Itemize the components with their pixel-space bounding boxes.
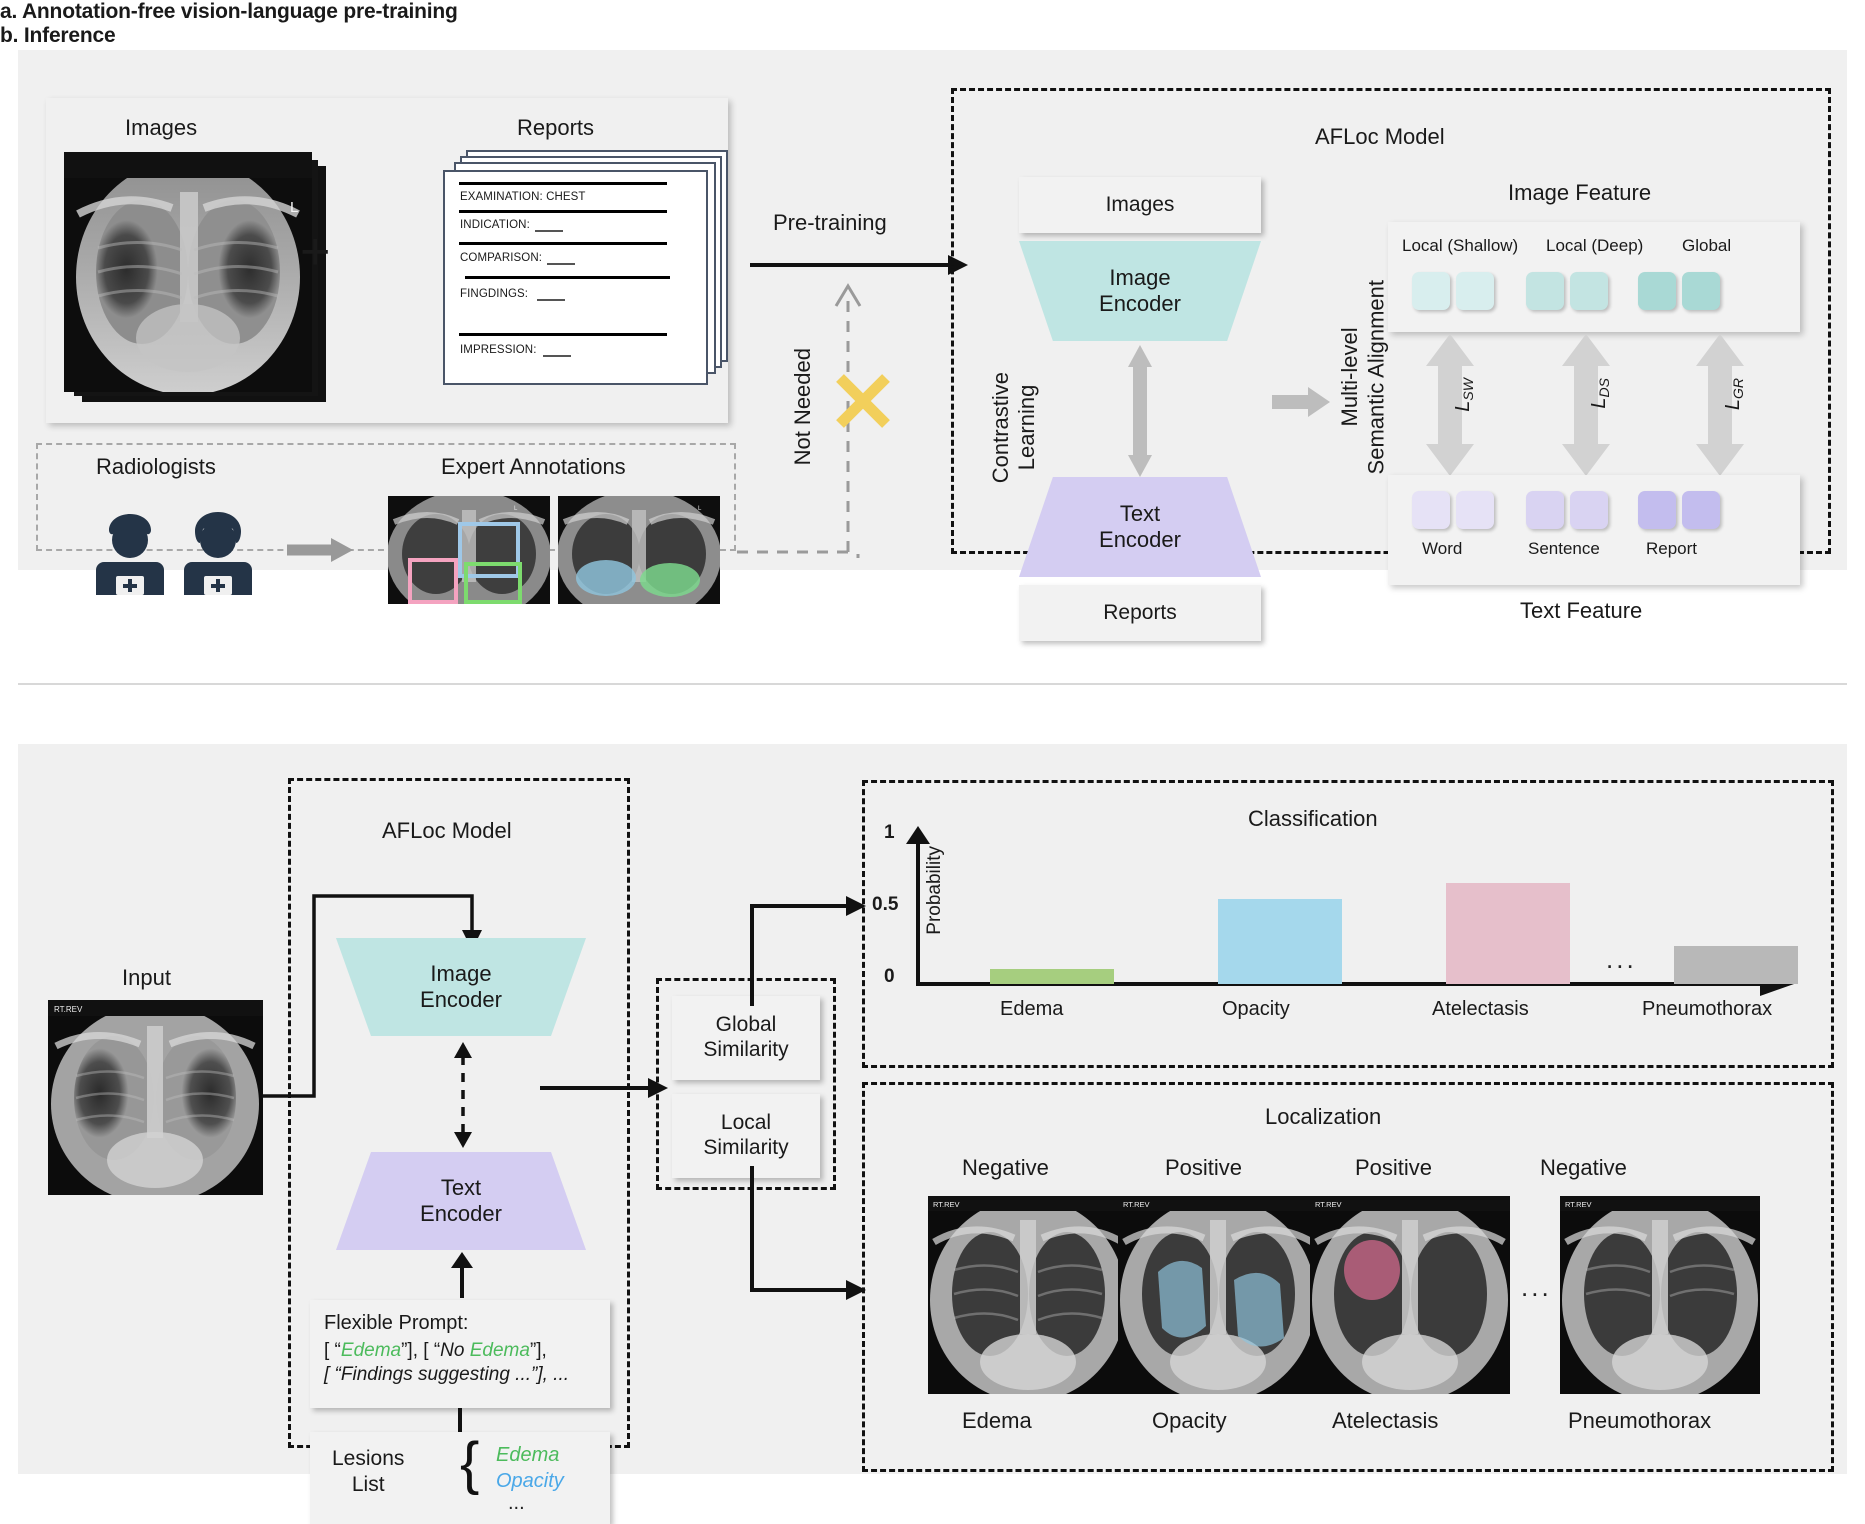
report-blank-3 [547, 263, 575, 265]
loss-ds-L: L [1588, 397, 1610, 408]
text-chip-word-2 [1456, 491, 1494, 529]
loss-label-gr: LGR [1722, 378, 1746, 410]
xray-stack-front: L [64, 152, 312, 392]
text-feature-panel: Word Sentence Report [1388, 475, 1800, 585]
loss-gr-L: L [1722, 399, 1744, 410]
svg-text:L: L [290, 199, 298, 216]
contrastive-learning-label: Contrastive Learning [988, 372, 1040, 483]
text-encoder-b: Text Encoder [336, 1152, 586, 1250]
text-level-sentence: Sentence [1528, 539, 1600, 559]
loc-xray-opacity: RT.REV [1118, 1196, 1318, 1394]
prompt-to-encoder-arrow [448, 1252, 476, 1300]
report-blank-5 [543, 355, 571, 357]
y-axis-label: Probability [924, 846, 946, 935]
expert-annotations-label: Expert Annotations [441, 454, 626, 480]
report-rule-3 [459, 242, 667, 245]
bar-edema [990, 969, 1114, 984]
y-tick-05: 0.5 [872, 894, 898, 916]
image-chip-global-1 [1638, 272, 1676, 310]
y-tick-0: 0 [884, 966, 895, 988]
encoder-to-similarity-arrow [540, 1070, 670, 1106]
image-chip-deep-2 [1570, 272, 1608, 310]
svg-text:RT.REV: RT.REV [1565, 1200, 1592, 1209]
svg-text:RT.REV: RT.REV [1123, 1200, 1150, 1209]
loc-status-1: Negative [962, 1155, 1049, 1181]
report-line-4: FINGDINGS: [460, 288, 528, 300]
prompt-no: No [440, 1340, 470, 1361]
loc-xray-3-svg: RT.REV [1310, 1196, 1510, 1394]
images-input-box: Images [1019, 177, 1261, 233]
loc-xray-4-svg: RT.REV [1560, 1196, 1760, 1394]
plus-sign: + [300, 222, 330, 282]
text-encoder-a: Text Encoder [1019, 477, 1261, 577]
bbox-xray-svg: L [388, 496, 550, 604]
prompt-bracket-1: [ “ [324, 1340, 341, 1361]
y-tick-1: 1 [884, 822, 895, 844]
lesions-list-label: Lesions List [332, 1446, 404, 1499]
input-xray-svg: RT.REV [48, 1000, 263, 1195]
to-alignment-arrow [1272, 385, 1332, 419]
report-rule-1 [459, 182, 667, 185]
x-tick-pneumothorax: Pneumothorax [1642, 998, 1772, 1021]
x-tick-atelectasis: Atelectasis [1432, 998, 1529, 1021]
radiologists-to-annotations-arrow [285, 535, 355, 565]
panel-a-title: a. Annotation-free vision-language pre-t… [0, 0, 1865, 24]
chart-ellipsis: ... [1606, 944, 1637, 975]
flexible-prompt-box: Flexible Prompt: [ “Edema”], [ “No Edema… [310, 1300, 610, 1408]
loss-label-ds: LDS [1588, 378, 1612, 409]
local-to-localization-path [740, 1166, 870, 1316]
loc-xray-pneumothorax: RT.REV [1560, 1196, 1760, 1394]
localization-title: Localization [1265, 1104, 1381, 1130]
encoder-bidirectional-arrow-a [1122, 345, 1158, 477]
input-label: Input [122, 965, 171, 991]
loc-label-atelectasis: Atelectasis [1332, 1408, 1438, 1434]
image-level-global: Global [1682, 236, 1731, 256]
text-chip-report-1 [1638, 491, 1676, 529]
report-rule-4 [465, 276, 670, 279]
multilevel-alignment-label: Multi-level Semantic Alignment [1337, 280, 1390, 474]
loc-status-2: Positive [1165, 1155, 1242, 1181]
prompt-edema-1: Edema [341, 1340, 401, 1361]
pretraining-label: Pre-training [773, 210, 887, 236]
prompt-bracket-2: ”], [ “ [401, 1340, 440, 1361]
loc-label-opacity: Opacity [1152, 1408, 1227, 1434]
svg-text:RT.REV: RT.REV [1315, 1200, 1342, 1209]
lesion-item-ellipsis: ... [508, 1492, 525, 1516]
report-line-5: IMPRESSION: [460, 344, 537, 356]
loc-label-edema: Edema [962, 1408, 1032, 1434]
lesion-item-opacity: Opacity [496, 1470, 564, 1494]
image-encoder-a: Image Encoder [1019, 241, 1261, 341]
expert-annotation-seg-image: L [558, 496, 720, 604]
afloc-model-title-a: AFLoc Model [1315, 124, 1445, 150]
report-rule-5 [459, 333, 667, 336]
chest-xray-svg: L [64, 152, 312, 392]
report-blank-4 [537, 299, 565, 301]
reports-label: Reports [517, 115, 594, 141]
report-blank-2 [535, 230, 563, 232]
prompt-line-1: [ “Edema”], [ “No Edema”], [324, 1339, 596, 1364]
report-line-2: INDICATION: [460, 219, 530, 231]
localization-ellipsis: ... [1521, 1272, 1552, 1303]
text-chip-report-2 [1682, 491, 1720, 529]
image-level-local-deep: Local (Deep) [1546, 236, 1643, 256]
image-chip-deep-1 [1526, 272, 1564, 310]
radiologists-label: Radiologists [96, 454, 216, 480]
image-encoder-b: Image Encoder [336, 938, 586, 1036]
image-chip-global-2 [1682, 272, 1720, 310]
prompt-bracket-3: ”], [530, 1340, 547, 1361]
cross-mark-icon [832, 370, 894, 432]
loss-ds-sub: DS [1596, 378, 1612, 397]
text-chip-sentence-1 [1526, 491, 1564, 529]
text-chip-word-1 [1412, 491, 1450, 529]
loss-sw-sub: SW [1460, 378, 1476, 401]
input-xray-image: RT.REV [48, 1000, 263, 1195]
loc-xray-edema: RT.REV [928, 1196, 1128, 1394]
bar-atelectasis [1446, 883, 1570, 984]
report-line-1: EXAMINATION: CHEST [460, 191, 586, 203]
lesions-brace-icon: { [460, 1438, 479, 1490]
loc-xray-atelectasis: RT.REV [1310, 1196, 1510, 1394]
images-label: Images [125, 115, 197, 141]
radiologists-icon [90, 500, 280, 595]
svg-text:RT.REV: RT.REV [54, 1005, 83, 1014]
image-chip-shallow-1 [1412, 272, 1450, 310]
loss-sw-L: L [1452, 401, 1474, 412]
bar-pneumothorax [1674, 946, 1798, 984]
afloc-model-title-b: AFLoc Model [382, 818, 512, 844]
expert-annotation-bbox-image: L [388, 496, 550, 604]
loc-xray-1-svg: RT.REV [928, 1196, 1128, 1394]
bar-opacity [1218, 899, 1342, 984]
x-tick-edema: Edema [1000, 998, 1063, 1021]
panel-divider [18, 683, 1847, 685]
flexible-prompt-title: Flexible Prompt: [324, 1312, 596, 1336]
text-feature-title: Text Feature [1520, 598, 1642, 624]
prompt-line-2: [ “Findings suggesting ...”], ... [324, 1363, 596, 1388]
loc-status-3: Positive [1355, 1155, 1432, 1181]
lesions-list-box: Lesions List { Edema Opacity ... [310, 1432, 610, 1524]
panel-b-title: b. Inference [0, 24, 1865, 48]
loss-label-sw: LSW [1452, 378, 1476, 412]
loss-gr-sub: GR [1730, 378, 1746, 399]
report-rule-2 [459, 210, 667, 213]
text-level-report: Report [1646, 539, 1697, 559]
seg-xray-svg: L [558, 496, 720, 604]
loc-xray-2-svg: RT.REV [1118, 1196, 1318, 1394]
text-level-word: Word [1422, 539, 1462, 559]
x-tick-opacity: Opacity [1222, 998, 1290, 1021]
loc-status-4: Negative [1540, 1155, 1627, 1181]
lesion-item-edema: Edema [496, 1444, 559, 1468]
encoder-bidirectional-arrow-b [450, 1040, 476, 1150]
classification-chart: 1 0.5 0 Probability ... Edema Opacity At… [880, 826, 1820, 1056]
svg-text:RT.REV: RT.REV [933, 1200, 960, 1209]
report-line-3: COMPARISON: [460, 252, 542, 264]
image-level-local-shallow: Local (Shallow) [1402, 236, 1518, 256]
image-feature-title: Image Feature [1508, 180, 1651, 206]
loc-label-pneumothorax: Pneumothorax [1568, 1408, 1711, 1434]
reports-input-box: Reports [1019, 585, 1261, 641]
image-chip-shallow-2 [1456, 272, 1494, 310]
image-feature-panel: Local (Shallow) Local (Deep) Global [1388, 222, 1800, 332]
text-chip-sentence-2 [1570, 491, 1608, 529]
global-to-classification-path [740, 880, 870, 1010]
report-sheet-front: EXAMINATION: CHEST INDICATION: COMPARISO… [443, 170, 708, 385]
prompt-edema-2: Edema [470, 1340, 530, 1361]
